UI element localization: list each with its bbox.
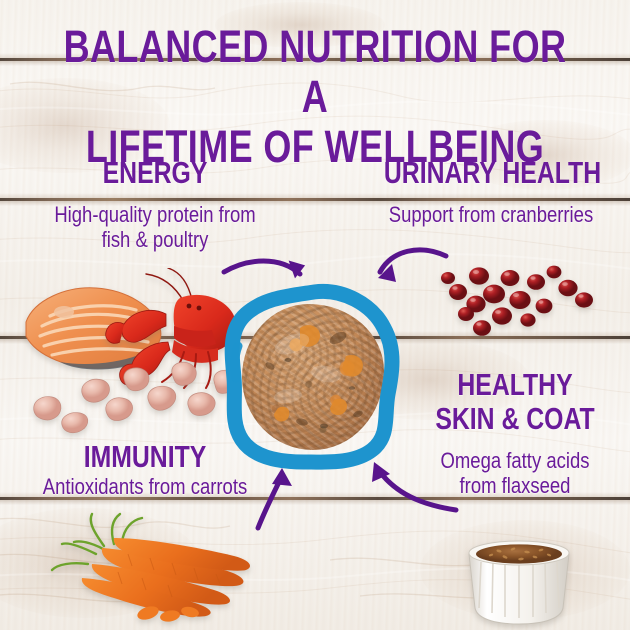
- benefit-body-urinary-health-line-1: Support from cranberries: [374, 202, 608, 227]
- center-food-group: [222, 282, 404, 472]
- page-title-line-1: BALANCED NUTRITION FOR A: [63, 22, 567, 122]
- arrow-urinary-to-food: [358, 238, 453, 308]
- benefit-heading-energy: ENERGY: [47, 156, 263, 190]
- chicken-pieces-image: [20, 355, 250, 435]
- page-title: BALANCED NUTRITION FOR A LIFETIME OF WEL…: [63, 22, 567, 172]
- arrow-immunity-to-food: [252, 452, 362, 532]
- carrots-image: [18, 512, 268, 622]
- benefit-heading-urinary-health: URINARY HEALTH: [383, 156, 603, 190]
- benefit-body-immunity-line-1: Antioxidants from carrots: [23, 474, 267, 499]
- blue-highlight-ring: [222, 282, 404, 472]
- arrow-energy-to-food: [218, 240, 338, 310]
- benefit-body-urinary-health: Support from cranberries: [374, 202, 608, 227]
- plank-seam: [0, 198, 630, 201]
- benefit-body-immunity: Antioxidants from carrots: [23, 474, 267, 499]
- cranberries-image: [432, 258, 622, 353]
- arrow-skin-to-food: [352, 448, 467, 523]
- benefit-heading-skin-line-1: HEALTHY: [423, 368, 607, 402]
- benefit-heading-skin-line-2: SKIN & COAT: [423, 402, 607, 436]
- benefit-body-energy-line-1: High-quality protein from: [33, 202, 277, 227]
- benefit-heading-healthy-skin-and-coat: HEALTHY SKIN & COAT: [423, 368, 607, 436]
- poster-root: BALANCED NUTRITION FOR A LIFETIME OF WEL…: [0, 0, 630, 630]
- flaxseed-ramekin-image: [455, 520, 585, 630]
